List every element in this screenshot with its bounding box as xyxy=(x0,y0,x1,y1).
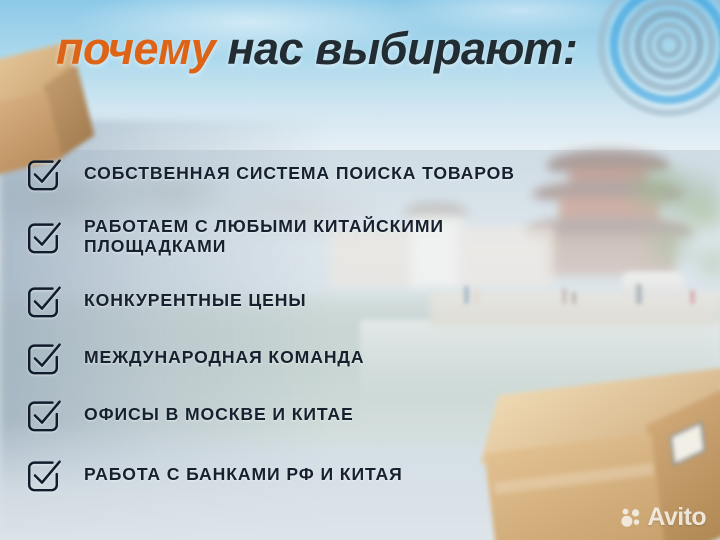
list-item: ОФИСЫ В МОСКВЕ И КИТАЕ xyxy=(24,386,684,444)
list-item: РАБОТА С БАНКАМИ РФ И КИТАЯ xyxy=(24,444,684,506)
list-item: СОБСТВЕННАЯ СИСТЕМА ПОИСКА ТОВАРОВ xyxy=(24,146,684,202)
avito-watermark: Avito xyxy=(620,505,706,530)
headline-accent-word: почему xyxy=(56,23,215,74)
checkbox-checked-icon xyxy=(24,282,62,320)
list-item-label: ОФИСЫ В МОСКВЕ И КИТАЕ xyxy=(84,405,354,425)
list-item-label: РАБОТА С БАНКАМИ РФ И КИТАЯ xyxy=(84,465,403,485)
checkbox-checked-icon xyxy=(24,339,62,377)
promo-poster: почему нас выбирают: СОБСТВЕННАЯ СИСТЕМА… xyxy=(0,0,720,540)
list-item-label: СОБСТВЕННАЯ СИСТЕМА ПОИСКА ТОВАРОВ xyxy=(84,164,515,184)
checkbox-checked-icon xyxy=(24,218,62,256)
avito-dots-icon xyxy=(620,507,642,529)
list-item: МЕЖДУНАРОДНАЯ КОМАНДА xyxy=(24,330,684,386)
list-item-label: КОНКУРЕНТНЫЕ ЦЕНЫ xyxy=(84,291,307,311)
list-item-label: РАБОТАЕМ С ЛЮБЫМИ КИТАЙСКИМИ ПЛОЩАДКАМИ xyxy=(84,217,554,256)
checkbox-checked-icon xyxy=(24,396,62,434)
poster-content: почему нас выбирают: СОБСТВЕННАЯ СИСТЕМА… xyxy=(0,0,720,540)
checkbox-checked-icon xyxy=(24,456,62,494)
list-item: КОНКУРЕНТНЫЕ ЦЕНЫ xyxy=(24,272,684,330)
list-item-label: МЕЖДУНАРОДНАЯ КОМАНДА xyxy=(84,348,364,368)
headline-main-text: нас выбирают: xyxy=(227,23,577,74)
avito-watermark-text: Avito xyxy=(647,505,706,530)
list-item: РАБОТАЕМ С ЛЮБЫМИ КИТАЙСКИМИ ПЛОЩАДКАМИ xyxy=(24,202,684,272)
checkbox-checked-icon xyxy=(24,155,62,193)
page-title: почему нас выбирают: xyxy=(56,26,577,71)
benefits-list: СОБСТВЕННАЯ СИСТЕМА ПОИСКА ТОВАРОВ РАБОТ… xyxy=(24,146,684,506)
